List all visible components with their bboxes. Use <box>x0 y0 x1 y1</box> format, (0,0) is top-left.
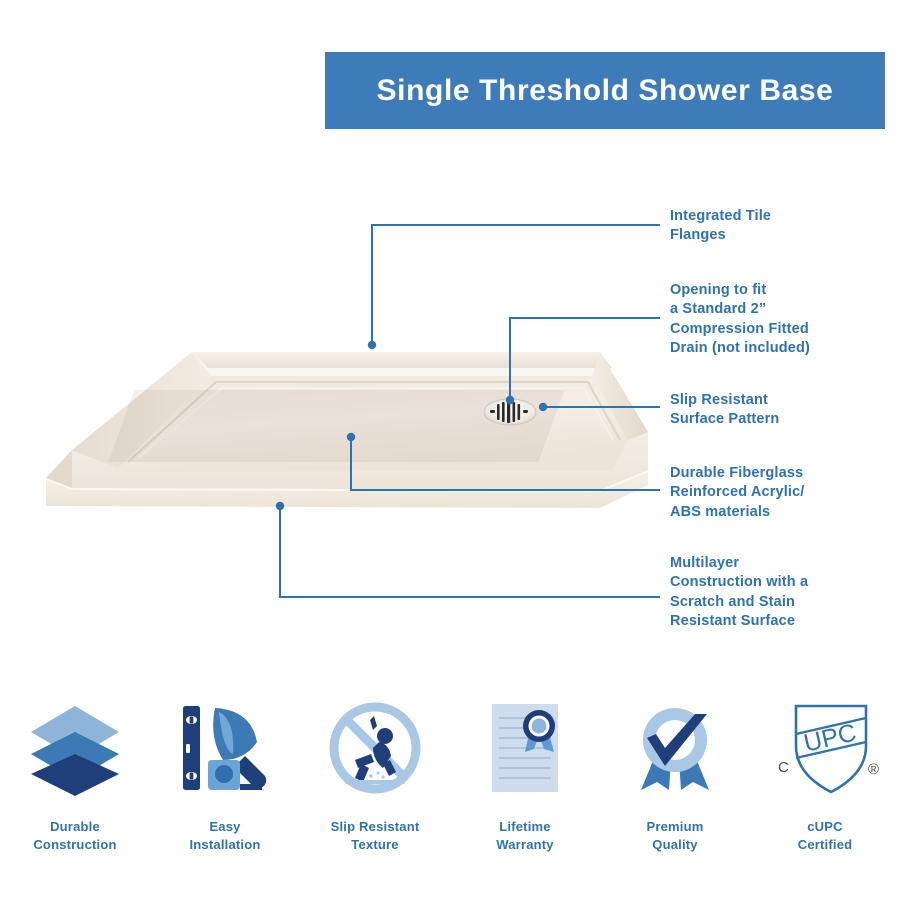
callout-opening-drain: Opening to fit a Standard 2” Compression… <box>670 281 810 358</box>
feature-durable-construction: Durable Construction <box>0 695 150 853</box>
infographic-page: Single Threshold Shower Base <box>0 0 900 900</box>
callout-integrated-tile-flanges: Integrated Tile Flanges <box>670 207 771 246</box>
feature-label-slip-resistant-texture: Slip Resistant Texture <box>331 818 420 853</box>
feature-cupc-certified: UPC C ® cUPC Certified <box>750 695 900 853</box>
check-rosette-icon <box>625 695 725 800</box>
upc-shield-icon: UPC C ® <box>770 695 880 800</box>
callout-multilayer-construction: Multilayer Construction with a Scratch a… <box>670 554 808 631</box>
certificate-ribbon-icon <box>475 695 575 800</box>
title-banner: Single Threshold Shower Base <box>325 52 885 129</box>
upc-shield-text: UPC <box>801 718 859 757</box>
callout-slip-resistant-surface-pattern: Slip Resistant Surface Pattern <box>670 391 779 430</box>
stacked-layers-icon <box>25 695 125 800</box>
feature-premium-quality: Premium Quality <box>600 695 750 853</box>
feature-lifetime-warranty: Lifetime Warranty <box>450 695 600 853</box>
feature-slip-resistant-texture: Slip Resistant Texture <box>300 695 450 853</box>
cupc-c-mark: C <box>778 759 789 776</box>
feature-label-easy-installation: Easy Installation <box>189 818 260 853</box>
feature-label-premium-quality: Premium Quality <box>646 818 703 853</box>
page-title: Single Threshold Shower Base <box>377 74 834 108</box>
no-slip-hazard-icon <box>325 695 425 800</box>
cupc-registered-mark: ® <box>868 761 879 778</box>
feature-easy-installation: Easy Installation <box>150 695 300 853</box>
back-rim-top <box>192 352 612 368</box>
feature-label-cupc-certified: cUPC Certified <box>798 818 853 853</box>
tools-level-trowel-tape-icon <box>175 695 275 800</box>
shower-base-svg <box>0 320 660 540</box>
feature-label-durable-construction: Durable Construction <box>33 818 116 853</box>
callout-durable-fiberglass: Durable Fiberglass Reinforced Acrylic/ A… <box>670 464 804 522</box>
feature-label-lifetime-warranty: Lifetime Warranty <box>496 818 553 853</box>
feature-badge-row: Durable Construction <box>0 695 900 875</box>
product-illustration <box>0 320 660 540</box>
drain-grate <box>484 399 536 425</box>
